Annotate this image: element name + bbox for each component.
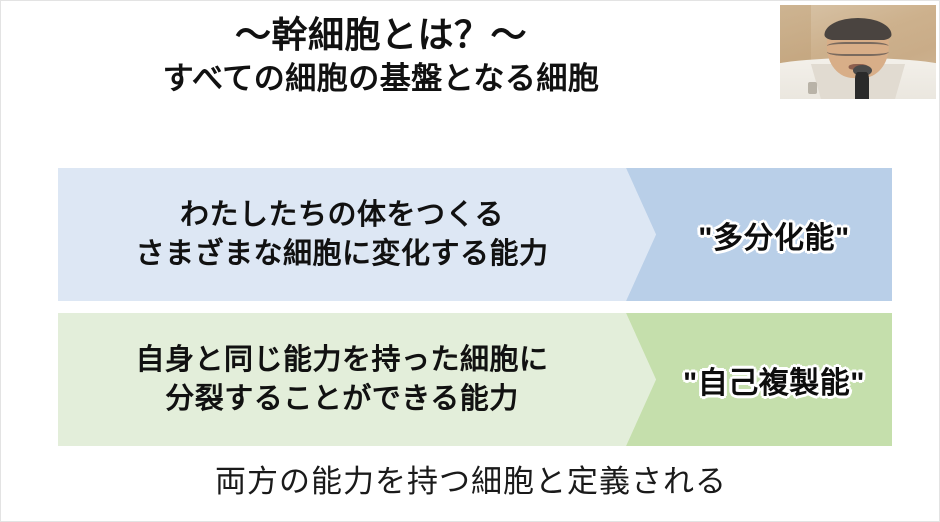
banner-description-line-1: 自身と同じ能力を持った細胞に (135, 341, 548, 380)
banner-description: 自身と同じ能力を持った細胞に 分裂することができる能力 (58, 313, 626, 446)
presentation-slide: 〜幹細胞とは？〜 すべての細胞の基盤となる細胞 わたしたちの体をつ (0, 0, 940, 522)
banner-self-renewal: 自身と同じ能力を持った細胞に 分裂することができる能力 "自己複製能" (58, 313, 892, 446)
page-title: 〜幹細胞とは？〜 (1, 15, 761, 55)
banner-tag-multipotency: "多分化能" (656, 168, 892, 301)
slide-footer-text: 両方の能力を持つ細胞と定義される (1, 456, 940, 501)
speaker-video-overlay[interactable] (776, 1, 940, 111)
banner-tag-self-renewal: "自己複製能" (656, 313, 892, 446)
microphone-icon (855, 72, 869, 102)
page-subtitle: すべての細胞の基盤となる細胞 (1, 62, 761, 97)
banner-description-line-2: 分裂することができる能力 (165, 380, 518, 419)
slide-heading: 〜幹細胞とは？〜 すべての細胞の基盤となる細胞 (1, 15, 761, 97)
video-bottom-edge (780, 99, 936, 106)
banner-description: わたしたちの体をつくる さまざまな細胞に変化する能力 (58, 168, 626, 301)
banner-description-line-2: さまざまな細胞に変化する能力 (135, 235, 548, 274)
glasses-icon (827, 42, 889, 56)
speaker-video-frame[interactable] (780, 5, 936, 106)
speaker-pocket-badge (808, 82, 817, 94)
banner-multipotency: わたしたちの体をつくる さまざまな細胞に変化する能力 "多分化能" (58, 168, 892, 301)
banner-description-line-1: わたしたちの体をつくる (180, 196, 504, 235)
